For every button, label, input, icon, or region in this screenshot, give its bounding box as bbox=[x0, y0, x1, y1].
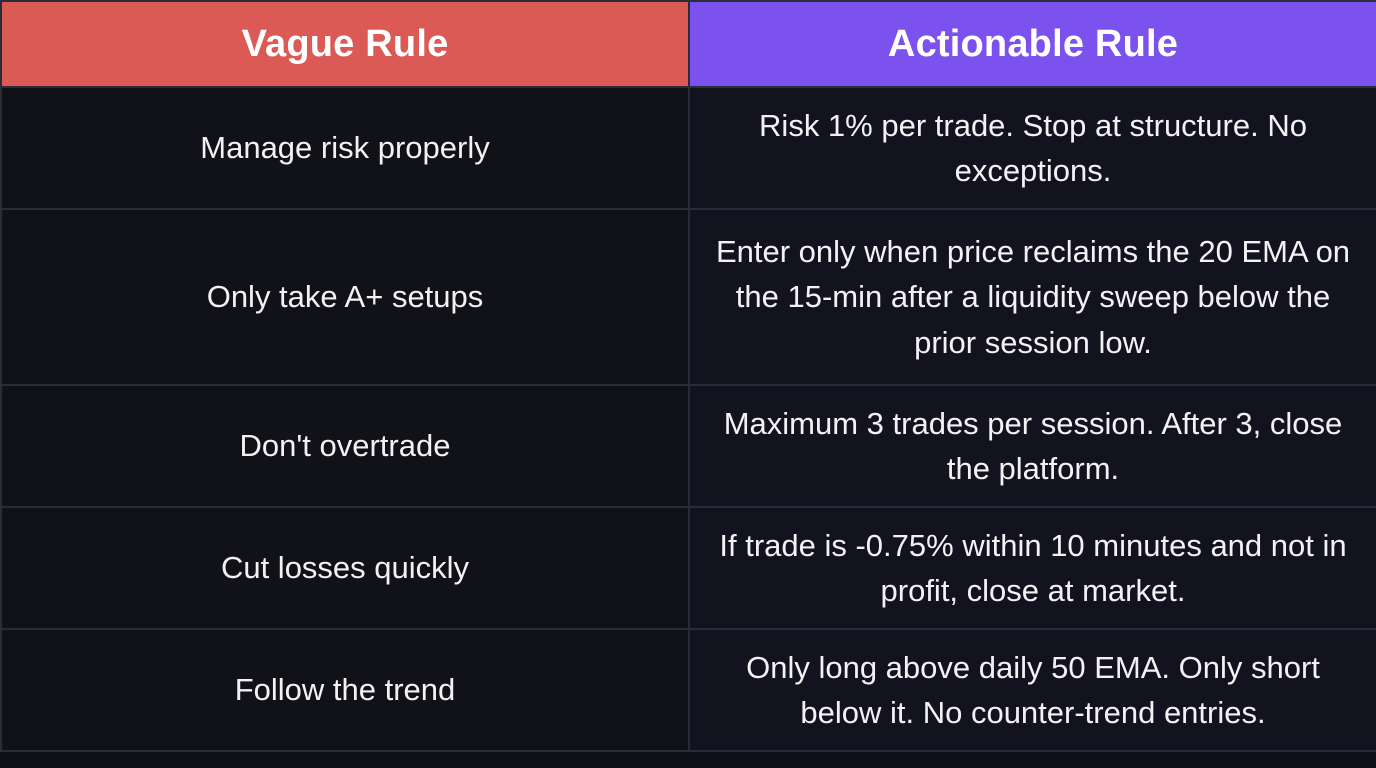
header-row: Vague Rule Actionable Rule bbox=[1, 1, 1376, 87]
table-row: Follow the trend Only long above daily 5… bbox=[1, 629, 1376, 751]
cell-actionable-rule-3: Maximum 3 trades per session. After 3, c… bbox=[689, 385, 1376, 507]
cell-vague-rule-1: Manage risk properly bbox=[1, 87, 689, 209]
cell-vague-rule-3: Don't overtrade bbox=[1, 385, 689, 507]
table-row: Manage risk properly Risk 1% per trade. … bbox=[1, 87, 1376, 209]
table-row: Only take A+ setups Enter only when pric… bbox=[1, 209, 1376, 385]
table-row: Don't overtrade Maximum 3 trades per ses… bbox=[1, 385, 1376, 507]
cell-actionable-rule-1: Risk 1% per trade. Stop at structure. No… bbox=[689, 87, 1376, 209]
cell-vague-rule-5: Follow the trend bbox=[1, 629, 689, 751]
column-header-actionable-rule: Actionable Rule bbox=[689, 1, 1376, 87]
cell-vague-rule-2: Only take A+ setups bbox=[1, 209, 689, 385]
table-header: Vague Rule Actionable Rule bbox=[1, 1, 1376, 87]
cell-actionable-rule-2: Enter only when price reclaims the 20 EM… bbox=[689, 209, 1376, 385]
cell-actionable-rule-4: If trade is -0.75% within 10 minutes and… bbox=[689, 507, 1376, 629]
cell-actionable-rule-5: Only long above daily 50 EMA. Only short… bbox=[689, 629, 1376, 751]
table-row: Cut losses quickly If trade is -0.75% wi… bbox=[1, 507, 1376, 629]
rules-comparison-table: Vague Rule Actionable Rule Manage risk p… bbox=[0, 0, 1376, 752]
table-body: Manage risk properly Risk 1% per trade. … bbox=[1, 87, 1376, 751]
column-header-vague-rule: Vague Rule bbox=[1, 1, 689, 87]
cell-vague-rule-4: Cut losses quickly bbox=[1, 507, 689, 629]
